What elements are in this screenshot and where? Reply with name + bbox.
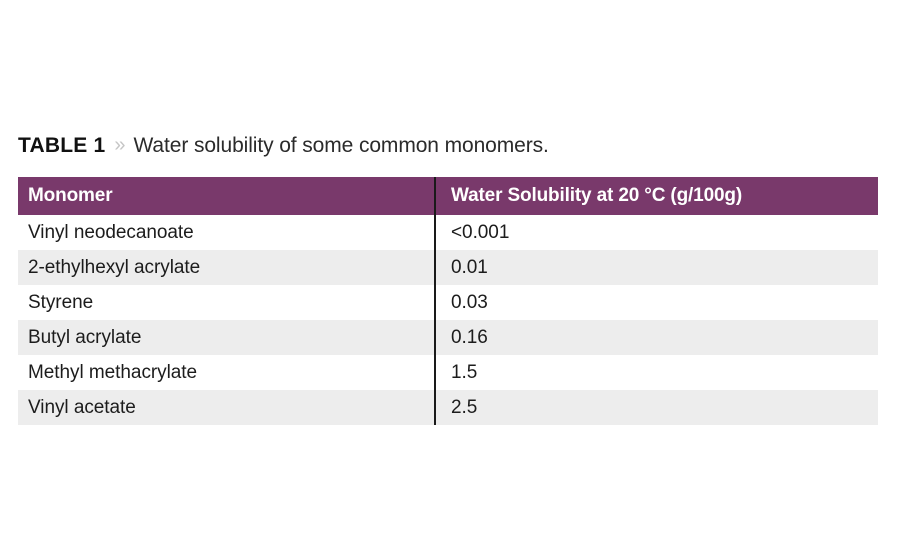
cell-solubility: 1.5 (435, 355, 878, 390)
cell-solubility: 2.5 (435, 390, 878, 425)
cell-monomer: Vinyl acetate (18, 390, 435, 425)
table-row: Vinyl neodecanoate <0.001 (18, 215, 878, 250)
table-caption-label: TABLE 1 (18, 134, 105, 158)
page-canvas: TABLE 1 » Water solubility of some commo… (0, 0, 900, 550)
table-container: Monomer Water Solubility at 20 °C (g/100… (18, 177, 878, 425)
column-header-water-solubility: Water Solubility at 20 °C (g/100g) (435, 177, 878, 215)
table-row: 2-ethylhexyl acrylate 0.01 (18, 250, 878, 285)
table-caption-text: Water solubility of some common monomers… (133, 134, 548, 158)
column-header-monomer: Monomer (18, 177, 435, 215)
cell-solubility: 0.03 (435, 285, 878, 320)
solubility-table: Monomer Water Solubility at 20 °C (g/100… (18, 177, 878, 425)
table-row: Styrene 0.03 (18, 285, 878, 320)
cell-solubility: <0.001 (435, 215, 878, 250)
cell-solubility: 0.01 (435, 250, 878, 285)
table-row: Methyl methacrylate 1.5 (18, 355, 878, 390)
table-row: Vinyl acetate 2.5 (18, 390, 878, 425)
cell-monomer: Styrene (18, 285, 435, 320)
table-row: Butyl acrylate 0.16 (18, 320, 878, 355)
cell-solubility: 0.16 (435, 320, 878, 355)
table-header: Monomer Water Solubility at 20 °C (g/100… (18, 177, 878, 215)
cell-monomer: Methyl methacrylate (18, 355, 435, 390)
cell-monomer: 2-ethylhexyl acrylate (18, 250, 435, 285)
double-chevron-right-icon: » (114, 135, 125, 155)
table-caption: TABLE 1 » Water solubility of some commo… (18, 130, 878, 162)
cell-monomer: Vinyl neodecanoate (18, 215, 435, 250)
table-body: Vinyl neodecanoate <0.001 2-ethylhexyl a… (18, 215, 878, 425)
cell-monomer: Butyl acrylate (18, 320, 435, 355)
table-header-row: Monomer Water Solubility at 20 °C (g/100… (18, 177, 878, 215)
